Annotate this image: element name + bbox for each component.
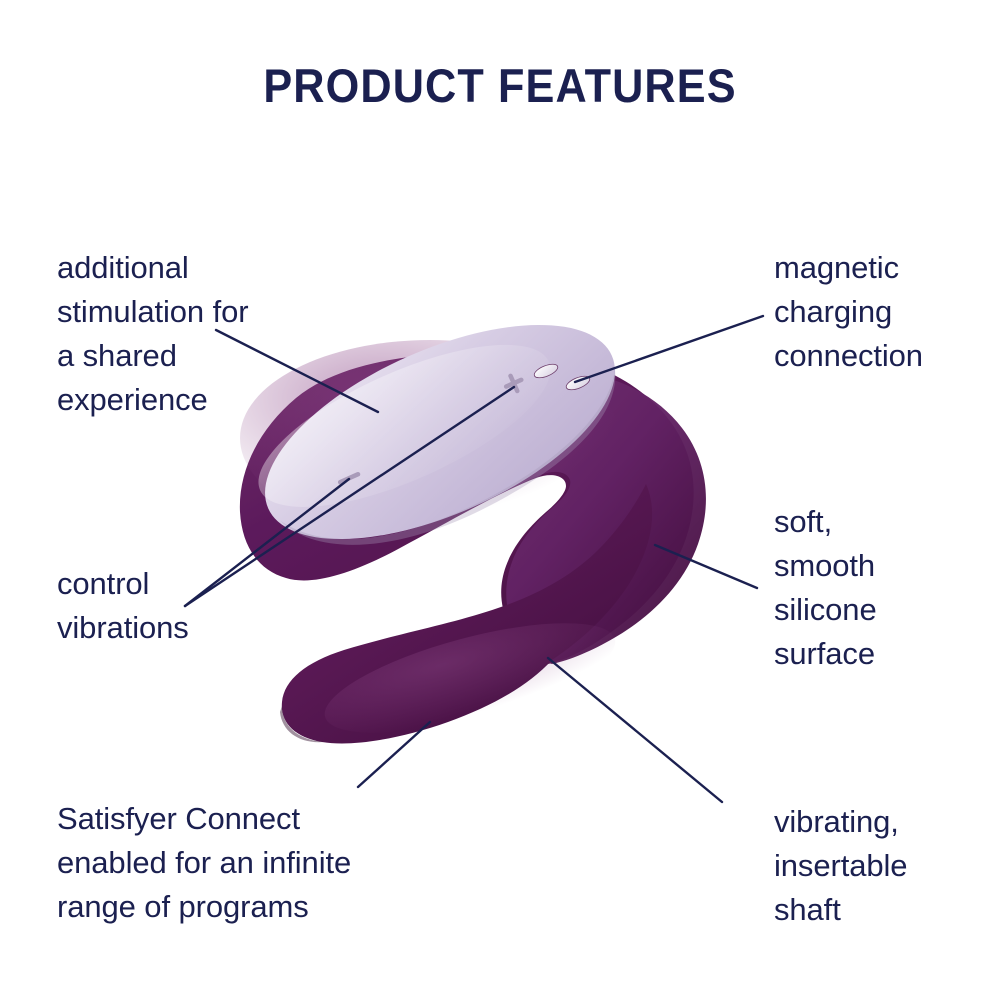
additional-stimulation-label: additional stimulation for a shared expe… [57, 246, 248, 422]
soft-smooth-silicone-label: soft, smooth silicone surface [774, 500, 877, 676]
vibrating-insertable-shaft-label: vibrating, insertable shaft [774, 800, 907, 932]
label-line: smooth [774, 544, 877, 588]
label-line: range of programs [57, 885, 351, 929]
label-line: insertable [774, 844, 907, 888]
label-line: control [57, 562, 189, 606]
label-line: enabled for an infinite [57, 841, 351, 885]
magnetic-charging-label: magnetic charging connection [774, 246, 923, 378]
label-line: charging [774, 290, 923, 334]
label-line: Satisfyer Connect [57, 797, 351, 841]
label-line: vibrating, [774, 800, 907, 844]
label-line: vibrations [57, 606, 189, 650]
control-vibrations-label: control vibrations [57, 562, 189, 650]
label-line: a shared [57, 334, 248, 378]
satisfyer-connect-label: Satisfyer Connect enabled for an infinit… [57, 797, 351, 929]
product-features-page: PRODUCT FEATURES [0, 0, 1000, 1000]
label-line: additional [57, 246, 248, 290]
label-line: shaft [774, 888, 907, 932]
label-line: surface [774, 632, 877, 676]
label-line: soft, [774, 500, 877, 544]
label-line: silicone [774, 588, 877, 632]
label-line: experience [57, 378, 248, 422]
label-line: stimulation for [57, 290, 248, 334]
label-line: connection [774, 334, 923, 378]
label-line: magnetic [774, 246, 923, 290]
